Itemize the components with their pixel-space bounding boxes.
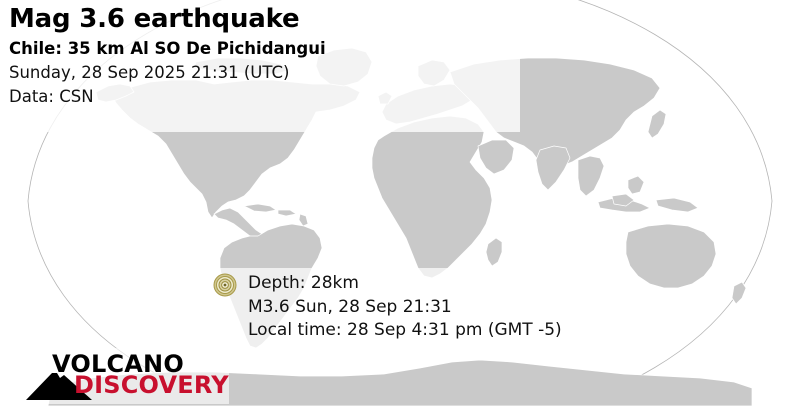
land-new-zealand <box>732 282 746 304</box>
quake-depth: Depth: 28km <box>248 272 562 296</box>
land-madagascar <box>486 238 502 266</box>
land-india <box>536 146 570 190</box>
land-japan <box>648 110 666 138</box>
land-australia <box>626 224 716 288</box>
land-philippines <box>628 176 644 194</box>
land-new-guinea <box>656 198 698 212</box>
earthquake-epicenter-icon[interactable] <box>213 273 237 297</box>
land-southeast-asia <box>578 156 604 196</box>
land-central-america <box>214 208 262 238</box>
land-arabia <box>478 140 514 174</box>
volcanodiscovery-logo[interactable]: VOLCANO DISCOVERY <box>26 352 226 400</box>
land-lesser-antilles <box>299 214 308 226</box>
earthquake-map-screenshot: Mag 3.6 earthquake Chile: 35 km Al SO De… <box>0 0 800 406</box>
header-backdrop <box>0 0 520 132</box>
land-hispaniola <box>278 210 296 216</box>
logo-text-discovery: DISCOVERY <box>74 373 229 398</box>
quake-info-block: Depth: 28km M3.6 Sun, 28 Sep 21:31 Local… <box>248 272 562 343</box>
quake-local-time: Local time: 28 Sep 4:31 pm (GMT -5) <box>248 319 562 343</box>
land-caribbean <box>244 204 276 212</box>
land-africa <box>372 116 492 278</box>
quake-magnitude-time: M3.6 Sun, 28 Sep 21:31 <box>248 296 562 320</box>
